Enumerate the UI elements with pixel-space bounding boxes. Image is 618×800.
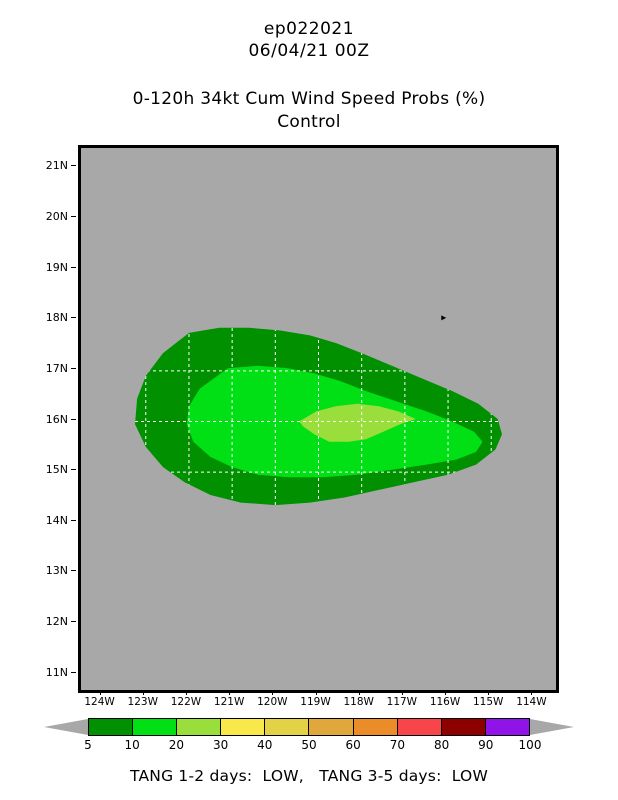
y-axis-tick-label-13N: 13N bbox=[32, 564, 68, 577]
colorbar-band-7 bbox=[398, 719, 442, 735]
x-axis-tick-label-122W: 122W bbox=[166, 696, 206, 708]
y-axis-tick-mark-20N bbox=[71, 216, 76, 217]
colorbar-bands bbox=[88, 718, 530, 736]
x-axis-tick-label-123W: 123W bbox=[123, 696, 163, 708]
wind-probability-contours: ▸ bbox=[81, 148, 556, 690]
colorbar-band-3 bbox=[221, 719, 265, 735]
x-axis-tick-label-120W: 120W bbox=[252, 696, 292, 708]
y-axis-tick-mark-13N bbox=[71, 570, 76, 571]
chart-header: ep022021 06/04/21 00Z bbox=[0, 18, 618, 62]
colorbar-right-taper-icon bbox=[530, 718, 574, 736]
y-axis-tick-label-21N: 21N bbox=[32, 159, 68, 172]
colorbar-label-50: 50 bbox=[289, 738, 329, 752]
colorbar-label-80: 80 bbox=[422, 738, 462, 752]
y-axis-tick-mark-21N bbox=[71, 165, 76, 166]
colorbar-label-5: 5 bbox=[68, 738, 108, 752]
probability-map-plot: ▸ bbox=[78, 145, 559, 693]
x-axis-tick-label-116W: 116W bbox=[425, 696, 465, 708]
y-axis-tick-label-16N: 16N bbox=[32, 413, 68, 426]
colorbar-label-30: 30 bbox=[201, 738, 241, 752]
plot-clip-area: ▸ bbox=[81, 148, 556, 690]
y-axis-tick-label-14N: 14N bbox=[32, 514, 68, 527]
product-subtitle-label: Control bbox=[0, 111, 618, 134]
y-axis-tick-label-17N: 17N bbox=[32, 362, 68, 375]
colorbar-label-10: 10 bbox=[112, 738, 152, 752]
chart-subtitle-block: 0-120h 34kt Cum Wind Speed Probs (%) Con… bbox=[0, 88, 618, 134]
y-axis-tick-label-15N: 15N bbox=[32, 463, 68, 476]
colorbar-band-5 bbox=[309, 719, 353, 735]
colorbar-band-2 bbox=[177, 719, 221, 735]
colorbar-tick-labels: 5102030405060708090100 bbox=[0, 738, 618, 756]
colorbar-label-20: 20 bbox=[156, 738, 196, 752]
y-axis-tick-label-12N: 12N bbox=[32, 615, 68, 628]
x-axis-tick-label-117W: 117W bbox=[382, 696, 422, 708]
colorbar-label-90: 90 bbox=[466, 738, 506, 752]
x-axis-tick-label-118W: 118W bbox=[339, 696, 379, 708]
x-axis-tick-label-114W: 114W bbox=[511, 696, 551, 708]
x-axis-tick-label-115W: 115W bbox=[468, 696, 508, 708]
colorbar-band-8 bbox=[442, 719, 486, 735]
product-title-label: 0-120h 34kt Cum Wind Speed Probs (%) bbox=[0, 88, 618, 111]
storm-id-label: ep022021 bbox=[0, 18, 618, 40]
x-axis-tick-label-119W: 119W bbox=[296, 696, 336, 708]
y-axis-tick-mark-15N bbox=[71, 469, 76, 470]
y-axis-tick-label-20N: 20N bbox=[32, 210, 68, 223]
colorbar-band-6 bbox=[354, 719, 398, 735]
y-axis-tick-mark-12N bbox=[71, 621, 76, 622]
colorbar-label-100: 100 bbox=[510, 738, 550, 752]
colorbar-band-4 bbox=[265, 719, 309, 735]
tang-footer-note: TANG 1-2 days: LOW, TANG 3-5 days: LOW bbox=[0, 767, 618, 785]
colorbar-band-0 bbox=[89, 719, 133, 735]
y-axis-tick-label-11N: 11N bbox=[32, 666, 68, 679]
y-axis-tick-label-18N: 18N bbox=[32, 311, 68, 324]
colorbar-label-70: 70 bbox=[377, 738, 417, 752]
probability-colorbar bbox=[44, 718, 574, 736]
y-axis-tick-mark-11N bbox=[71, 672, 76, 673]
y-axis-tick-mark-16N bbox=[71, 419, 76, 420]
x-axis-tick-label-124W: 124W bbox=[80, 696, 120, 708]
valid-datetime-label: 06/04/21 00Z bbox=[0, 40, 618, 62]
colorbar-label-40: 40 bbox=[245, 738, 285, 752]
y-axis-tick-label-19N: 19N bbox=[32, 261, 68, 274]
x-axis-tick-label-121W: 121W bbox=[209, 696, 249, 708]
y-axis-tick-mark-19N bbox=[71, 267, 76, 268]
colorbar-label-60: 60 bbox=[333, 738, 373, 752]
storm-position-marker-icon: ▸ bbox=[441, 313, 446, 324]
colorbar-left-taper-icon bbox=[44, 718, 88, 736]
colorbar-band-9 bbox=[486, 719, 529, 735]
y-axis-tick-mark-17N bbox=[71, 368, 76, 369]
y-axis-tick-mark-14N bbox=[71, 520, 76, 521]
y-axis-tick-mark-18N bbox=[71, 317, 76, 318]
colorbar-band-1 bbox=[133, 719, 177, 735]
